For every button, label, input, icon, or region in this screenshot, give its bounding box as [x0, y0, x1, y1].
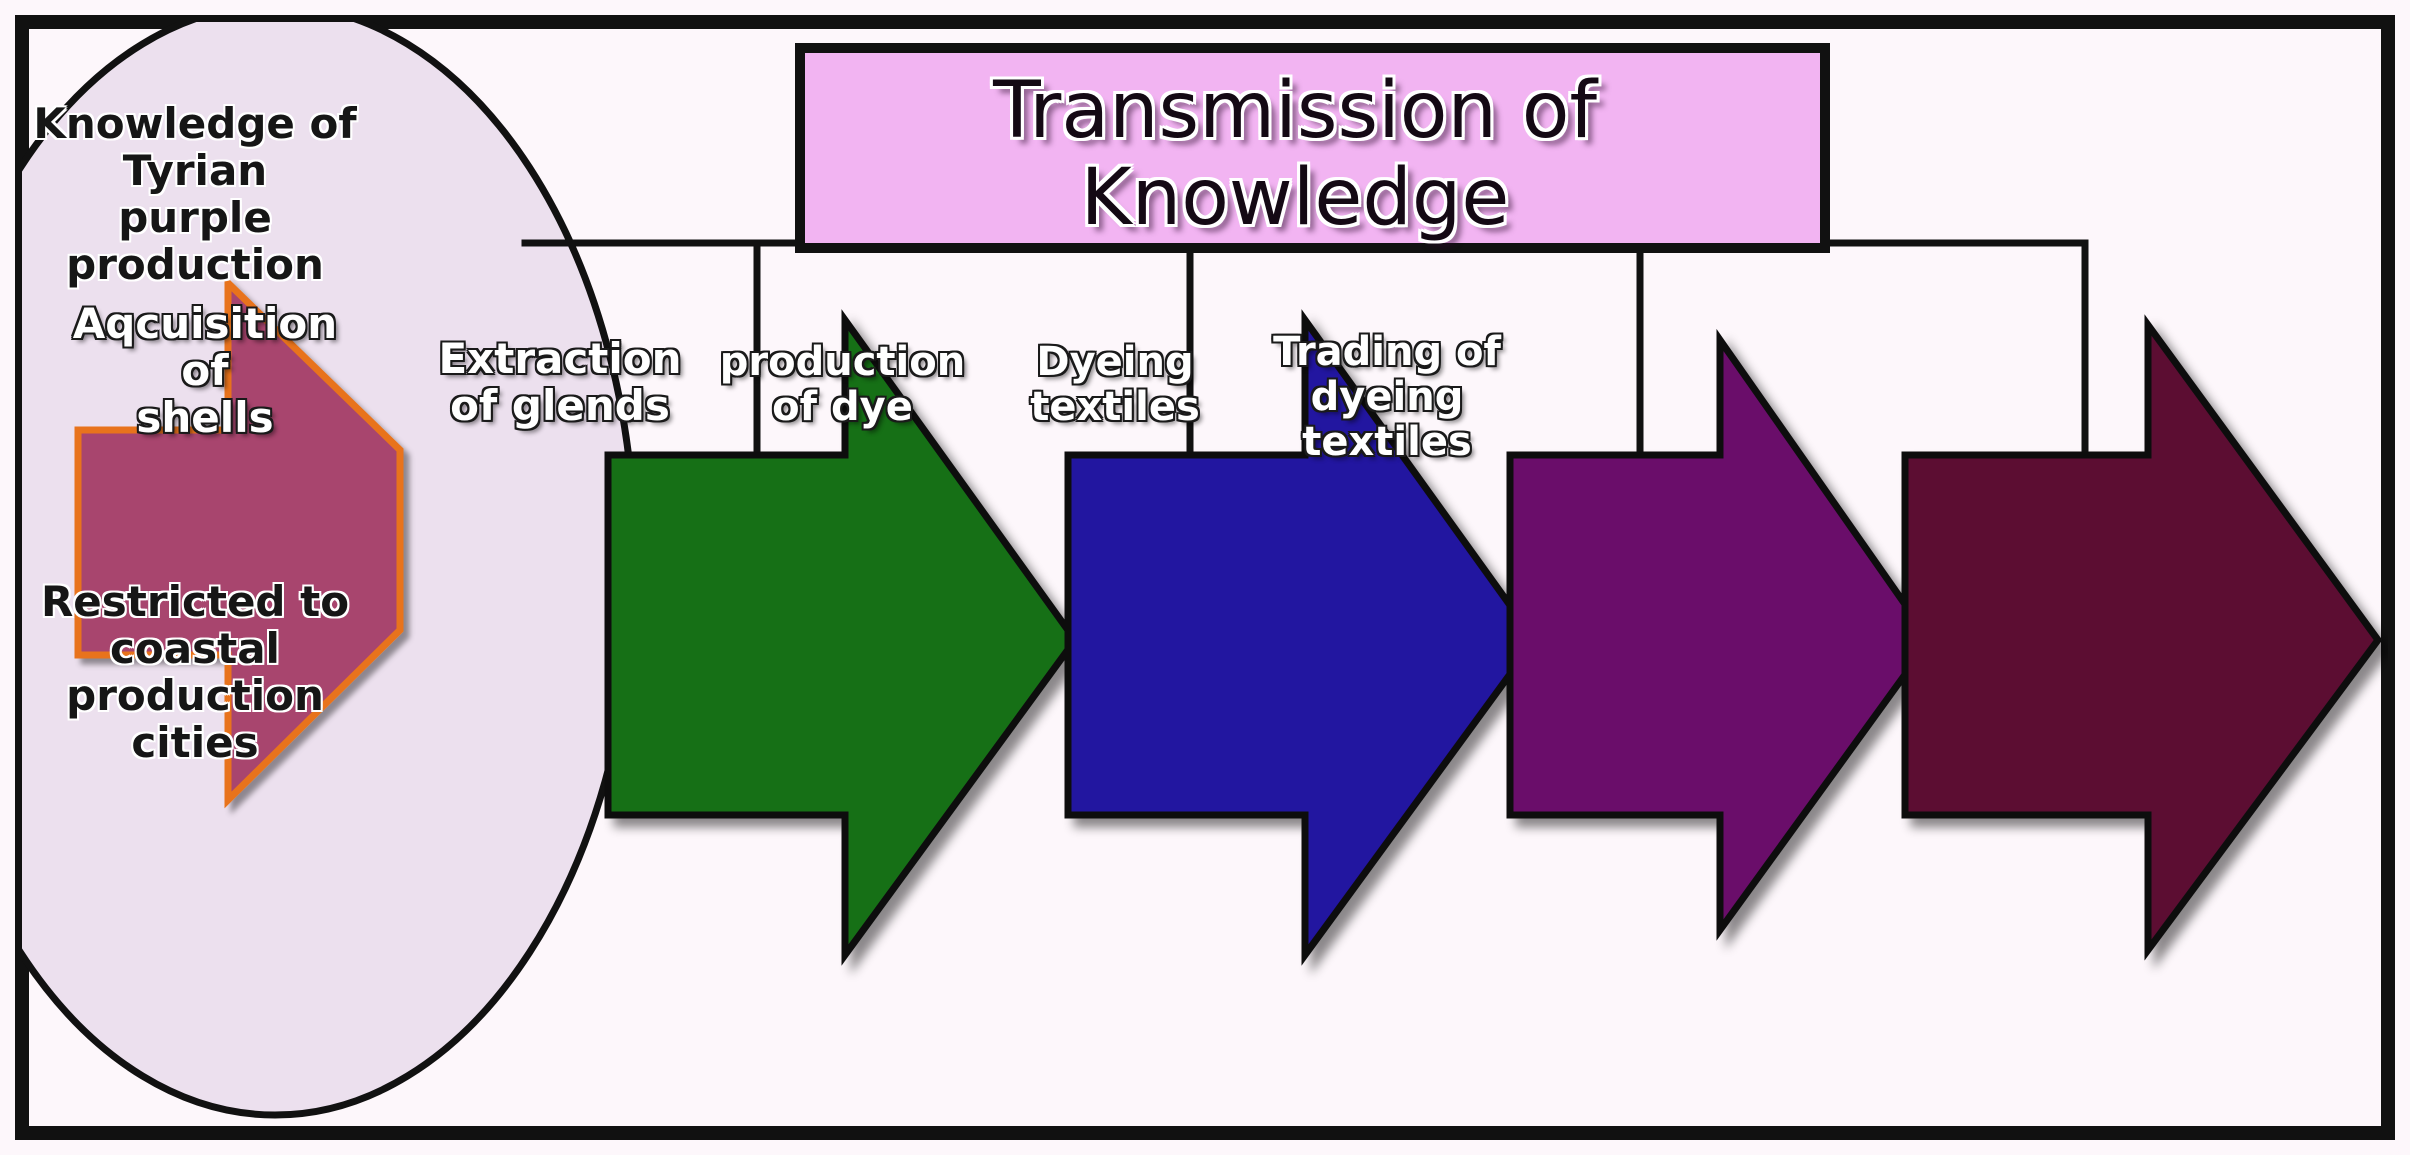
title-box[interactable] [800, 48, 1825, 248]
diagram-graphics [0, 0, 2410, 1155]
diagram-canvas: Transmission of Knowledge Knowledge of T… [0, 0, 2410, 1155]
